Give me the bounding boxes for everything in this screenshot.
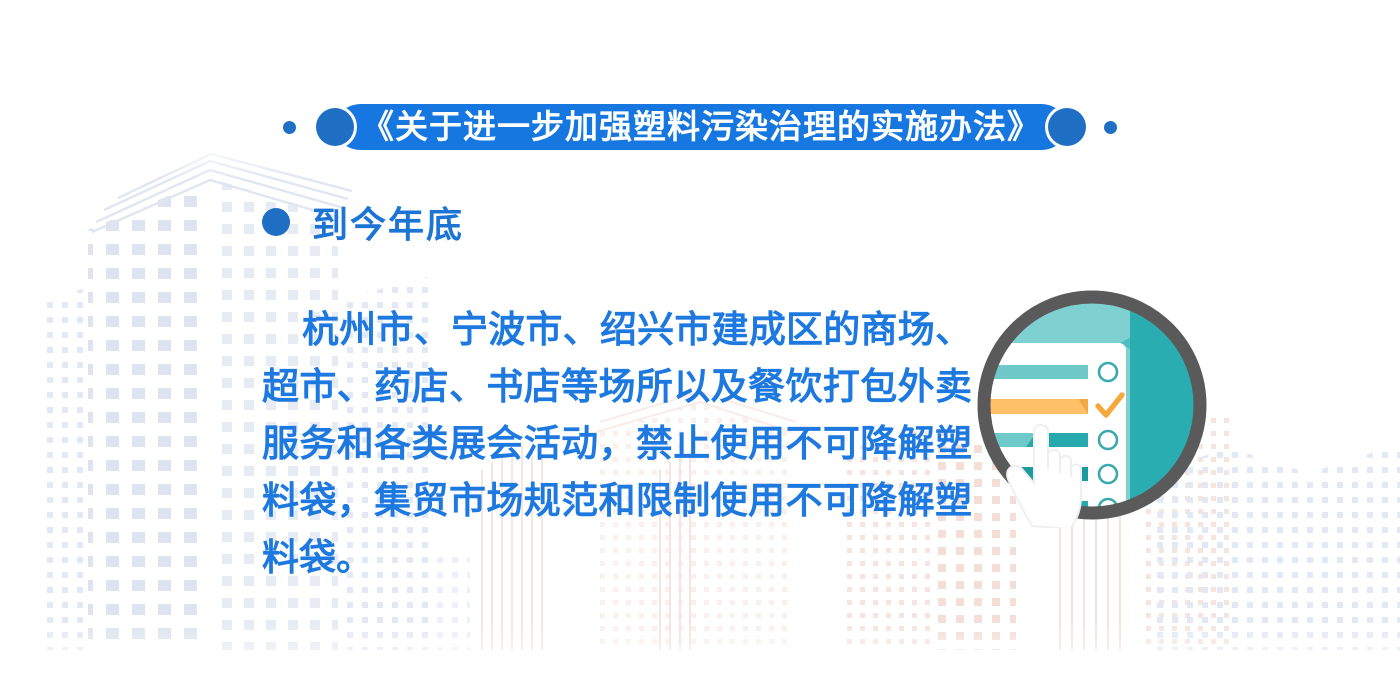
page-title: 《关于进一步加强塑料污染治理的实施办法》 (361, 104, 1041, 150)
document-title-banner: 《关于进一步加强塑料污染治理的实施办法》 (335, 104, 1067, 150)
title-dot-small-left (283, 121, 296, 134)
checklist-row-1-bar (992, 365, 1088, 379)
title-dot-small-right (1104, 121, 1117, 134)
section-paragraph: 杭州市、宁波市、绍兴市建成区的商场、超市、药店、书店等场所以及餐饮打包外卖服务和… (262, 301, 972, 586)
section-heading-label: 到今年底 (312, 196, 464, 248)
checklist-row-2-bar (978, 399, 1088, 414)
checklist-illustration (970, 283, 1215, 528)
title-dot-large-left (316, 108, 354, 146)
section-heading: 到今年底 (262, 196, 464, 248)
bullet-dot-icon (262, 208, 290, 236)
title-banner-row: 《关于进一步加强塑料污染治理的实施办法》 (0, 96, 1400, 158)
infographic-slide: 《关于进一步加强塑料污染治理的实施办法》 到今年底 杭州市、宁波市、绍兴市建成区… (0, 0, 1400, 700)
title-dot-large-right (1048, 108, 1086, 146)
